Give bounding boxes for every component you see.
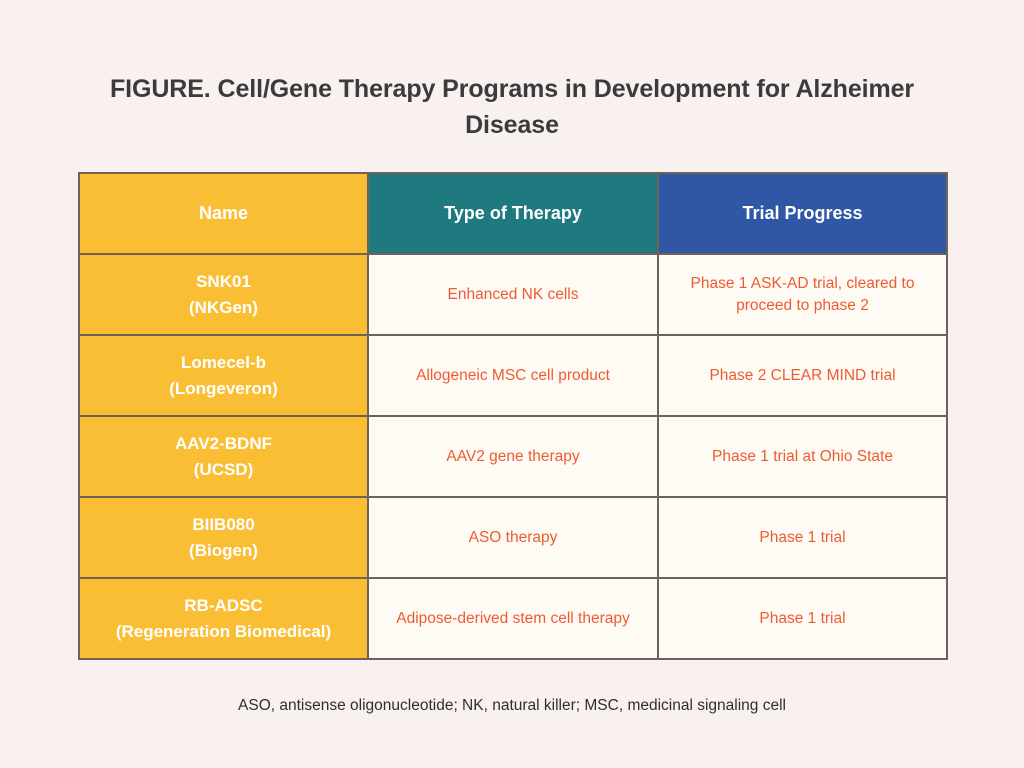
program-name: BIIB080 xyxy=(80,512,367,537)
column-header-trial-progress-label: Trial Progress xyxy=(659,202,946,225)
cell-type-of-therapy: Enhanced NK cells xyxy=(368,254,658,335)
therapy-type-text: Enhanced NK cells xyxy=(369,284,657,306)
column-header-type-of-therapy-label: Type of Therapy xyxy=(369,202,657,225)
therapy-type-text: ASO therapy xyxy=(369,527,657,549)
trial-progress-text: Phase 1 ASK-AD trial, cleared to proceed… xyxy=(659,273,946,317)
cell-name: Lomecel-b (Longeveron) xyxy=(79,335,368,416)
therapy-type-text: AAV2 gene therapy xyxy=(369,446,657,468)
column-header-name-label: Name xyxy=(80,202,367,225)
cell-type-of-therapy: Adipose-derived stem cell therapy xyxy=(368,578,658,659)
table-header: Name Type of Therapy Trial Progress xyxy=(79,173,947,254)
cell-type-of-therapy: ASO therapy xyxy=(368,497,658,578)
cell-type-of-therapy: Allogeneic MSC cell product xyxy=(368,335,658,416)
cell-name: SNK01 (NKGen) xyxy=(79,254,368,335)
program-sponsor: (Regeneration Biomedical) xyxy=(80,619,367,644)
cell-trial-progress: Phase 1 trial xyxy=(658,578,947,659)
trial-progress-text: Phase 1 trial at Ohio State xyxy=(659,446,946,468)
cell-trial-progress: Phase 2 CLEAR MIND trial xyxy=(658,335,947,416)
table-row: SNK01 (NKGen) Enhanced NK cells Phase 1 … xyxy=(79,254,947,335)
column-header-name: Name xyxy=(79,173,368,254)
cell-name: AAV2-BDNF (UCSD) xyxy=(79,416,368,497)
cell-trial-progress: Phase 1 trial xyxy=(658,497,947,578)
program-sponsor: (UCSD) xyxy=(80,457,367,482)
cell-name: BIIB080 (Biogen) xyxy=(79,497,368,578)
program-name: SNK01 xyxy=(80,269,367,294)
table-row: Lomecel-b (Longeveron) Allogeneic MSC ce… xyxy=(79,335,947,416)
program-sponsor: (NKGen) xyxy=(80,295,367,320)
table-row: BIIB080 (Biogen) ASO therapy Phase 1 tri… xyxy=(79,497,947,578)
cell-trial-progress: Phase 1 trial at Ohio State xyxy=(658,416,947,497)
cell-type-of-therapy: AAV2 gene therapy xyxy=(368,416,658,497)
program-table: Name Type of Therapy Trial Progress SNK0… xyxy=(78,172,948,660)
cell-name: RB-ADSC (Regeneration Biomedical) xyxy=(79,578,368,659)
program-name: RB-ADSC xyxy=(80,593,367,618)
program-sponsor: (Biogen) xyxy=(80,538,367,563)
figure-footnote: ASO, antisense oligonucleotide; NK, natu… xyxy=(0,696,1024,716)
program-sponsor: (Longeveron) xyxy=(80,376,367,401)
trial-progress-text: Phase 2 CLEAR MIND trial xyxy=(659,365,946,387)
cell-trial-progress: Phase 1 ASK-AD trial, cleared to proceed… xyxy=(658,254,947,335)
column-header-type-of-therapy: Type of Therapy xyxy=(368,173,658,254)
trial-progress-text: Phase 1 trial xyxy=(659,527,946,549)
program-name: AAV2-BDNF xyxy=(80,431,367,456)
therapy-type-text: Allogeneic MSC cell product xyxy=(369,365,657,387)
figure-title: FIGURE. Cell/Gene Therapy Programs in De… xyxy=(88,72,936,143)
therapy-type-text: Adipose-derived stem cell therapy xyxy=(369,608,657,630)
table-row: AAV2-BDNF (UCSD) AAV2 gene therapy Phase… xyxy=(79,416,947,497)
trial-progress-text: Phase 1 trial xyxy=(659,608,946,630)
column-header-trial-progress: Trial Progress xyxy=(658,173,947,254)
table-header-row: Name Type of Therapy Trial Progress xyxy=(79,173,947,254)
table-body: SNK01 (NKGen) Enhanced NK cells Phase 1 … xyxy=(79,254,947,659)
figure-page: FIGURE. Cell/Gene Therapy Programs in De… xyxy=(0,0,1024,768)
program-name: Lomecel-b xyxy=(80,350,367,375)
program-table-container: Name Type of Therapy Trial Progress SNK0… xyxy=(78,172,946,660)
table-row: RB-ADSC (Regeneration Biomedical) Adipos… xyxy=(79,578,947,659)
